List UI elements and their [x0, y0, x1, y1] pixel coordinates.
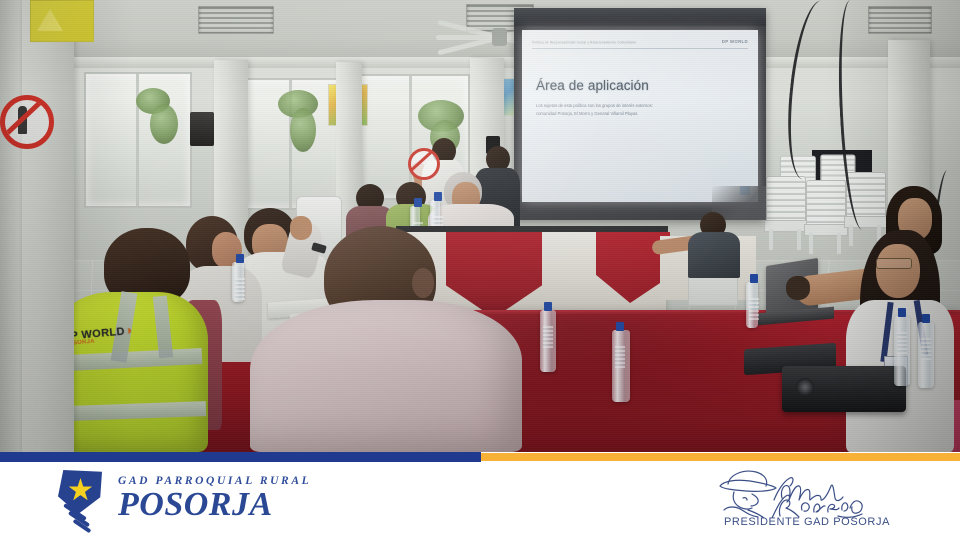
divider-orange-segment	[481, 453, 960, 461]
water-bottle	[746, 282, 758, 328]
brand-lockup: GAD PARROQUIAL RURAL POSORJA	[58, 470, 311, 530]
brand-name: POSORJA	[118, 488, 311, 522]
brand-divider-bar	[0, 452, 960, 462]
warning-poster	[30, 0, 94, 42]
foreground-attendee-body	[250, 300, 522, 452]
presentation-slide: Política de Responsabilidad Social y Rel…	[522, 30, 758, 202]
posorja-shield-icon	[58, 470, 108, 530]
page-root: Política de Responsabilidad Social y Rel…	[0, 0, 960, 540]
divider-blue-segment	[0, 452, 481, 462]
slide-body-text: Los sujetos de esta política son los gru…	[536, 102, 664, 118]
screen-frame	[514, 8, 766, 26]
no-smoking-icon	[408, 148, 440, 180]
air-vent-icon	[198, 6, 274, 34]
stacked-chair	[806, 180, 844, 254]
plant-foliage	[290, 108, 316, 152]
water-bottle	[540, 310, 556, 372]
vest-logo-mark: ◑	[124, 323, 133, 338]
attendee-hand	[290, 216, 312, 240]
main-pillar	[22, 0, 74, 452]
slide-eyebrow-text: Política de Responsabilidad Social y Rel…	[532, 39, 636, 44]
brand-kicker: GAD PARROQUIAL RURAL	[118, 475, 311, 487]
signature-icon	[710, 466, 906, 518]
projector-device	[782, 366, 906, 412]
projector-lens-icon	[796, 378, 814, 396]
president-caption: PRESIDENTE GAD POSORJA	[724, 516, 890, 528]
meeting-photograph: Política de Responsabilidad Social y Rel…	[0, 0, 960, 452]
brand-text-block: GAD PARROQUIAL RURAL POSORJA	[118, 475, 311, 522]
water-bottle	[918, 322, 934, 388]
operator-hand	[786, 276, 810, 300]
plant-foliage	[150, 104, 178, 144]
dp-world-logo: DP WORLD	[722, 39, 748, 44]
no-entry-icon	[0, 95, 54, 149]
attendee-body	[688, 232, 740, 278]
footer-bar: GAD PARROQUIAL RURAL POSORJA	[0, 462, 960, 540]
foreground-attendee-ear	[412, 268, 434, 298]
stacked-chair	[766, 176, 804, 250]
slide-title: Área de aplicación	[536, 78, 649, 93]
operator-face	[876, 244, 920, 298]
projection-screen: Política de Responsabilidad Social y Rel…	[514, 8, 766, 220]
window	[84, 72, 192, 208]
wall-speaker	[190, 112, 214, 146]
water-bottle	[232, 262, 244, 302]
water-bottle	[612, 330, 630, 402]
water-bottle	[894, 316, 910, 386]
eyeglasses-icon	[876, 258, 912, 269]
president-signature-block: PRESIDENTE GAD POSORJA	[710, 466, 906, 536]
water-bottle	[430, 200, 440, 228]
air-vent-icon	[868, 6, 932, 34]
slide-rule	[532, 48, 748, 49]
